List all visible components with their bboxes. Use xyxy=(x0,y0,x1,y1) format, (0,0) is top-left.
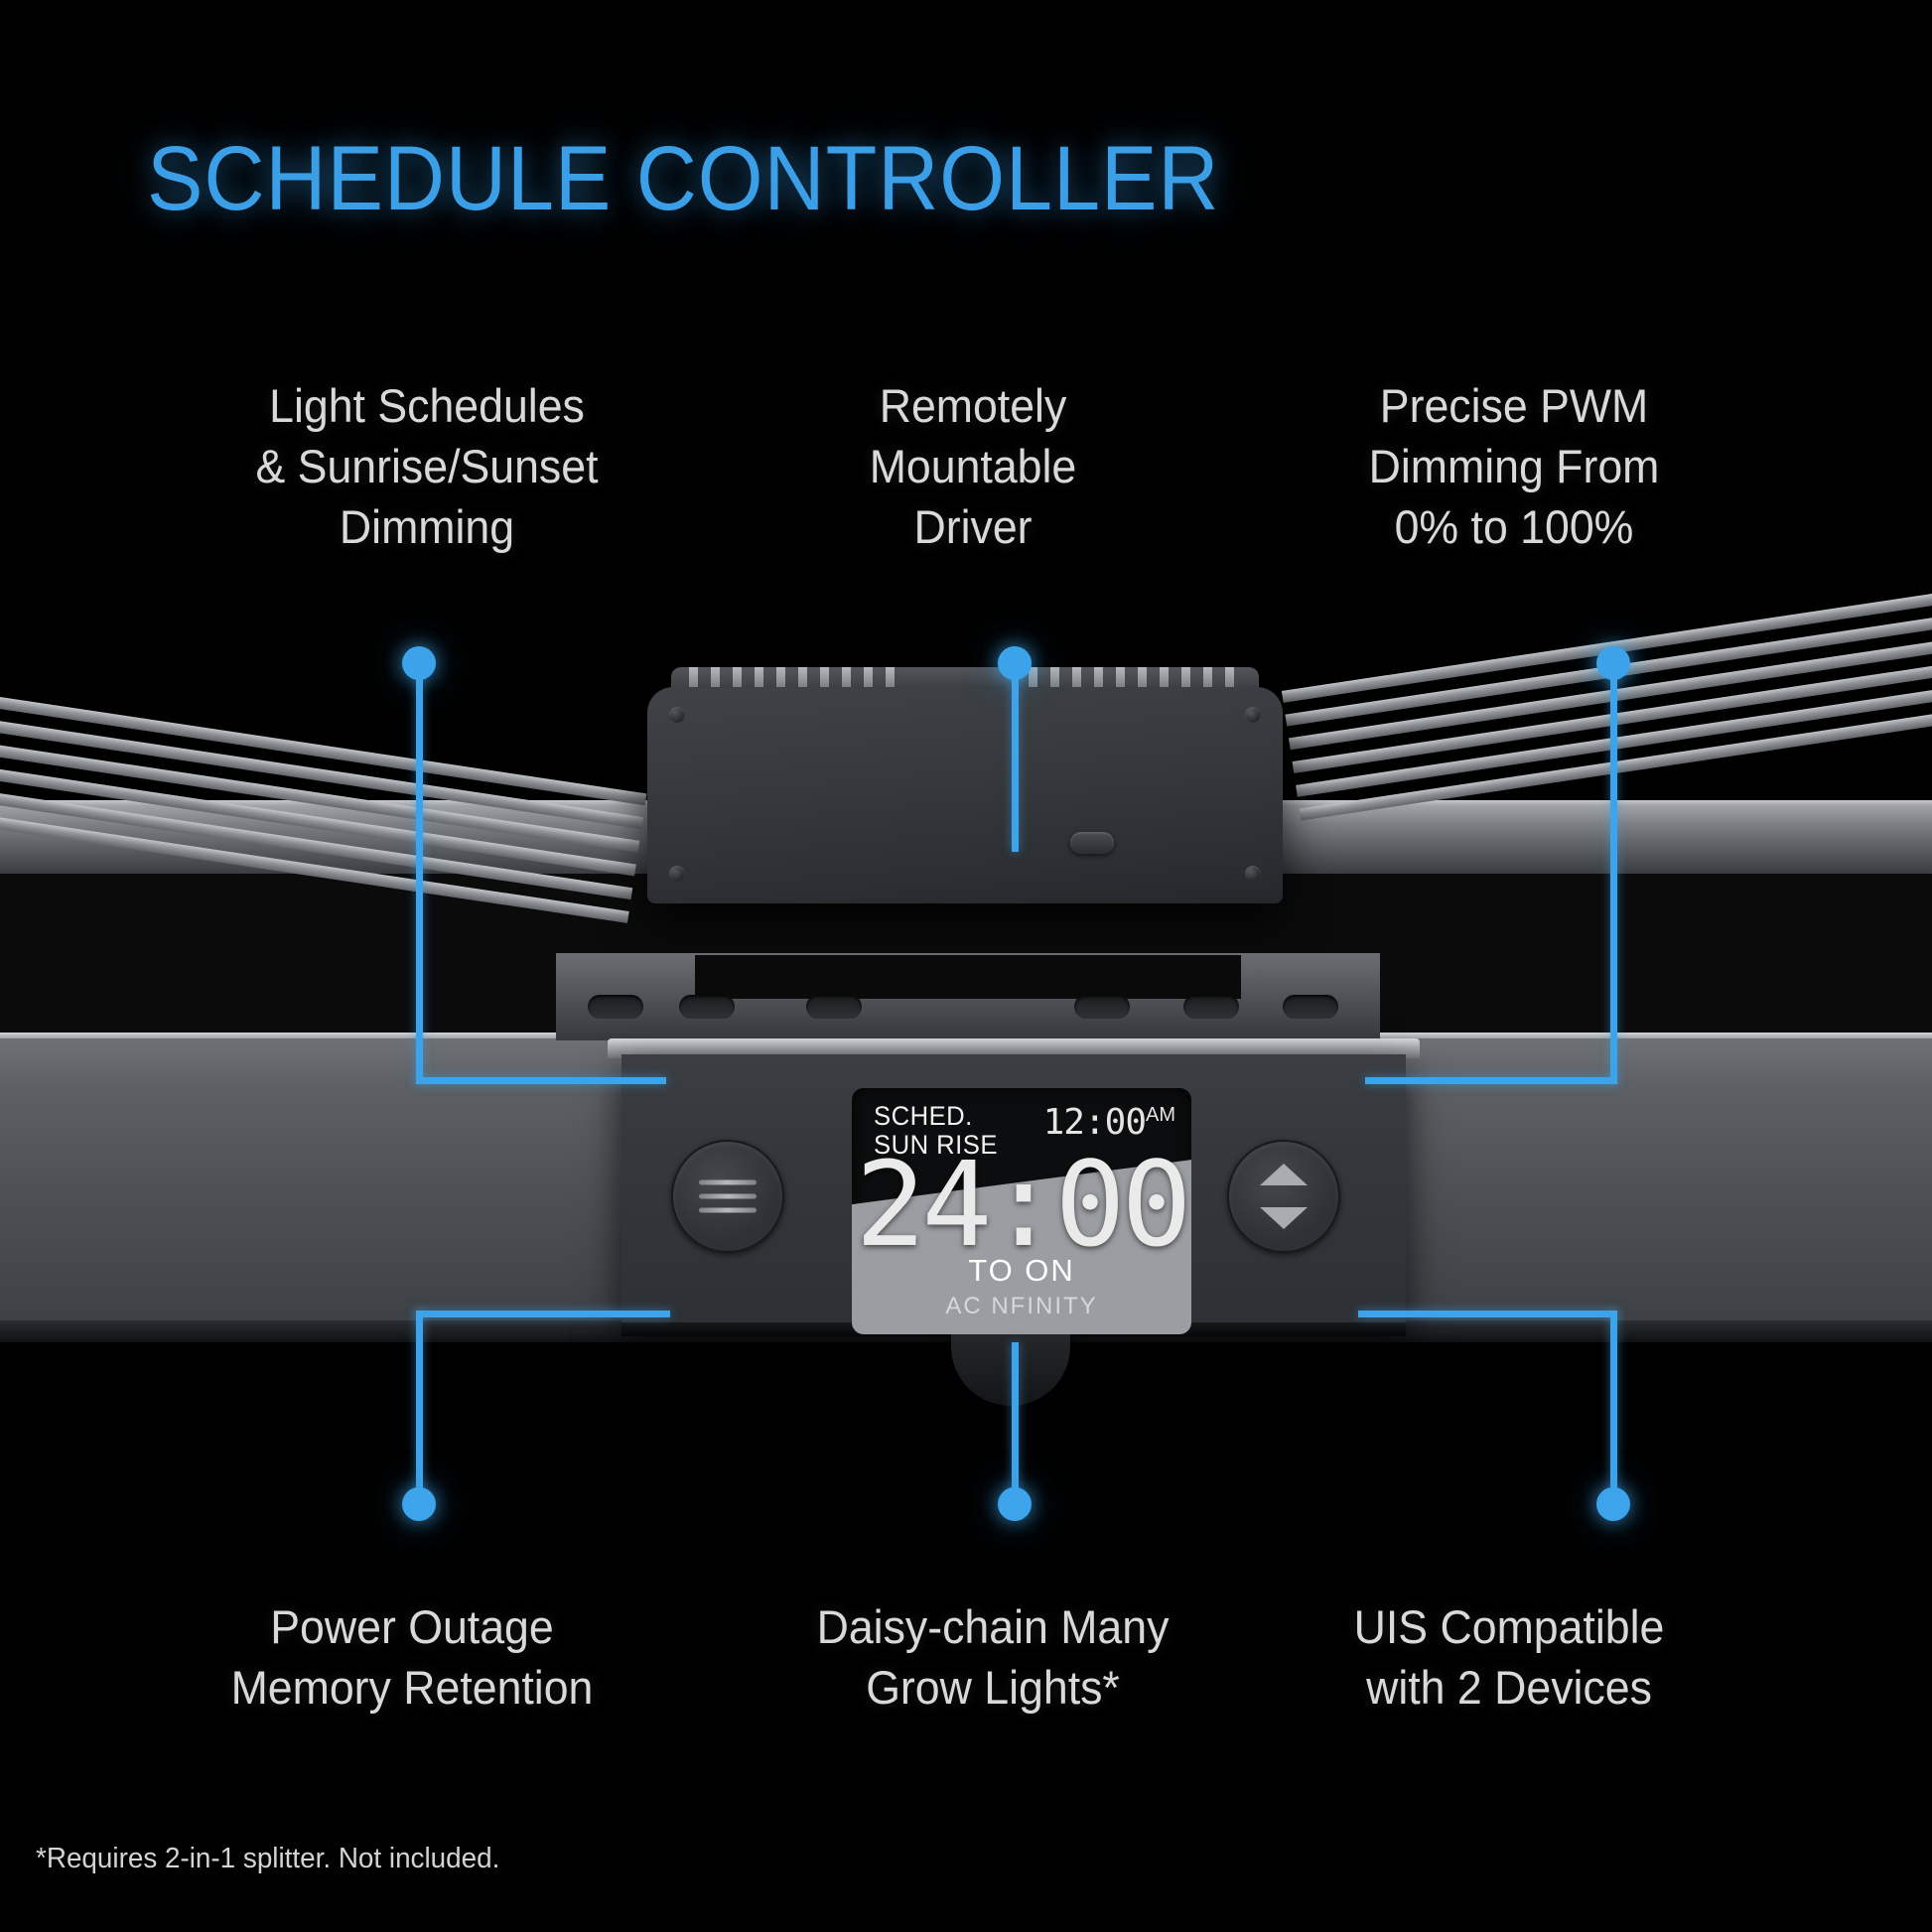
callout-dot-power-outage xyxy=(402,1487,436,1521)
callout-line-power-outage-v xyxy=(416,1311,423,1511)
callout-dot-daisy-chain xyxy=(998,1487,1032,1521)
feature-label-pwm-dimming: Precise PWM Dimming From 0% to 100% xyxy=(1166,375,1863,557)
callout-line-uis-compatible-v xyxy=(1610,1311,1617,1511)
feature-label-uis-compatible: UIS Compatible with 2 Devices xyxy=(1161,1596,1859,1718)
callout-line-daisy-chain-v xyxy=(1012,1342,1019,1511)
infographic-canvas: SCHED. SUN RISE 12:00AM 24:00 TO ON AC N… xyxy=(0,0,1932,1932)
callout-line-light-schedules-h xyxy=(416,1077,666,1084)
callout-line-uis-compatible-h xyxy=(1358,1311,1617,1317)
callout-dot-uis-compatible xyxy=(1596,1487,1630,1521)
footnote-text: *Requires 2-in-1 splitter. Not included. xyxy=(36,1843,499,1875)
callout-line-power-outage-h xyxy=(416,1311,670,1317)
callout-line-pwm-dimming-h xyxy=(1365,1077,1617,1084)
callout-line-remote-driver-v xyxy=(1012,663,1019,852)
callout-line-pwm-dimming-v xyxy=(1610,663,1617,1084)
callout-line-light-schedules-v xyxy=(416,663,423,1084)
